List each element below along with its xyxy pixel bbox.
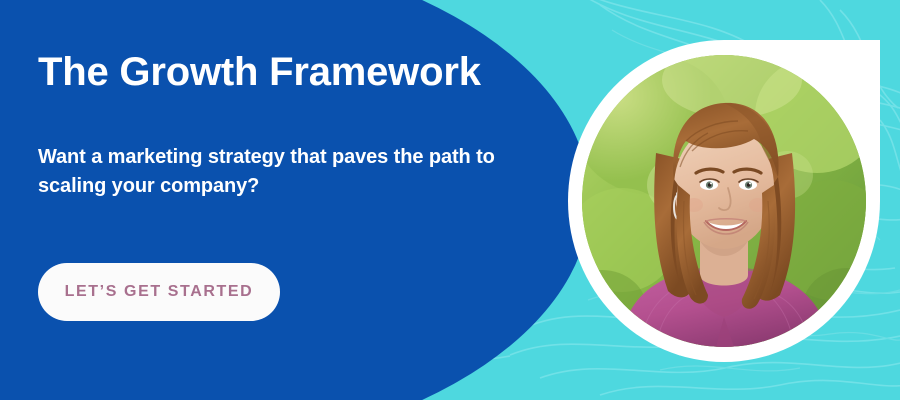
portrait-illustration-svg xyxy=(582,55,866,347)
promo-banner: The Growth Framework Want a marketing st… xyxy=(0,0,900,400)
portrait-photo xyxy=(582,55,866,347)
page-title: The Growth Framework xyxy=(38,49,481,95)
banner-content: The Growth Framework Want a marketing st… xyxy=(38,0,528,400)
lets-get-started-button[interactable]: LET’S GET STARTED xyxy=(38,263,280,321)
subheadline-text: Want a marketing strategy that paves the… xyxy=(38,143,520,201)
